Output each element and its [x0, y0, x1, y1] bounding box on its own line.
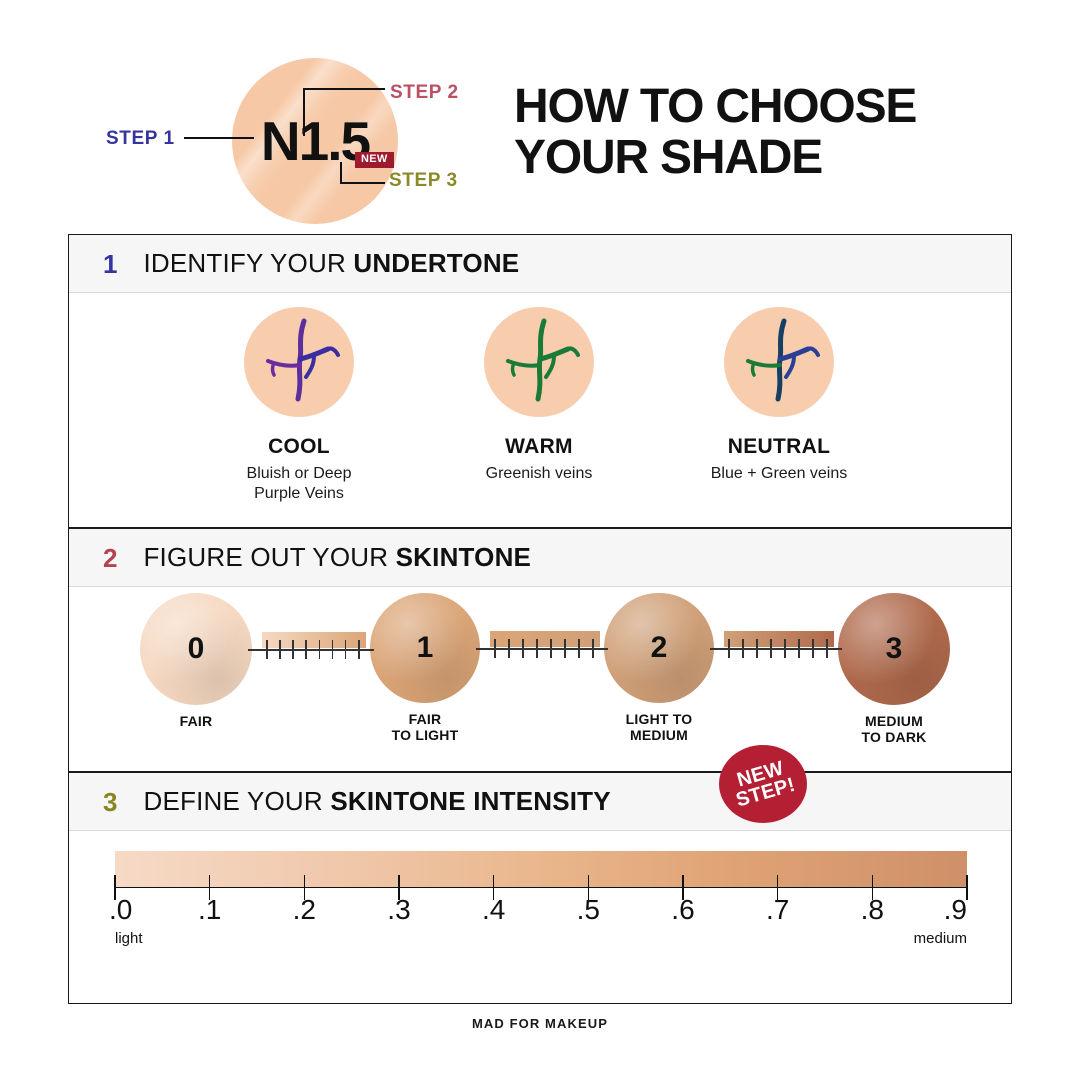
step2-leader-line-h [303, 88, 385, 90]
connector-tick [564, 639, 566, 658]
connector-tick [578, 639, 580, 658]
shade-code-label: N1.5 [232, 58, 398, 224]
section-2-title: FIGURE OUT YOUR SKINTONE [143, 542, 531, 573]
section-1-header: 1 IDENTIFY YOUR UNDERTONE [69, 235, 1011, 293]
cool-vein-illustration [244, 307, 354, 417]
intensity-tick-label-5: .5 [577, 894, 600, 926]
new-step-badge-text: NEWSTEP! [729, 757, 798, 810]
skintone-swatch-3: 3 [838, 593, 950, 705]
undertone-options: COOL Bluish or DeepPurple Veins WARM Gr [69, 293, 1011, 529]
connector-tick [332, 640, 334, 659]
section-skintone: 2 FIGURE OUT YOUR SKINTONE 0FAIR1FAIRTO … [68, 528, 1012, 772]
step2-leader-line-v [303, 88, 305, 136]
connector-gradient-band [262, 632, 366, 648]
skintone-option-1[interactable]: 1FAIRTO LIGHT [345, 593, 505, 743]
skintone-label-2: LIGHT TOMEDIUM [579, 711, 739, 743]
undertone-name-neutral: NEUTRAL [649, 435, 909, 459]
step-3-callout: STEP 3 [389, 170, 458, 192]
skintone-label-0: FAIR [116, 713, 276, 729]
undertone-desc-cool: Bluish or DeepPurple Veins [169, 464, 429, 504]
section-3-title-bold: SKINTONE INTENSITY [330, 786, 611, 816]
step3-leader-line-h [340, 182, 385, 184]
section-undertone: 1 IDENTIFY YOUR UNDERTONE COOL Bluish o [68, 234, 1012, 528]
skintone-number-0: 0 [188, 632, 205, 666]
skintone-connector-0-to-1 [248, 632, 374, 666]
connector-tick [770, 639, 772, 658]
section-1-title-bold: UNDERTONE [353, 248, 519, 278]
skintone-label-1: FAIRTO LIGHT [345, 711, 505, 743]
section-1-title-plain: IDENTIFY YOUR [143, 248, 353, 278]
header: N1.5 NEW STEP 1 STEP 2 STEP 3 HOW TO CHO… [0, 0, 1080, 228]
connector-tick [305, 640, 307, 659]
undertone-option-warm[interactable]: WARM Greenish veins [409, 307, 669, 484]
intensity-tick-label-2: .2 [293, 894, 316, 926]
connector-tick [742, 639, 744, 658]
intensity-axis [115, 887, 967, 888]
connector-tick [522, 639, 524, 658]
intensity-scale: .0.1.2.3.4.5.6.7.8.9 light medium [115, 851, 967, 950]
connector-tick [592, 639, 594, 658]
new-badge-chip: NEW [355, 152, 394, 168]
intensity-caption-medium: medium [914, 930, 967, 947]
section-3-number: 3 [103, 789, 117, 815]
skintone-number-3: 3 [886, 632, 903, 666]
skintone-rail: 0FAIR1FAIRTO LIGHT2LIGHT TOMEDIUM3MEDIUM… [69, 587, 1013, 773]
intensity-tick-label-7: .7 [766, 894, 789, 926]
step1-leader-line [184, 137, 254, 139]
connector-tick [358, 640, 360, 659]
skintone-connector-1-to-2 [476, 631, 608, 665]
connector-tick [279, 640, 281, 659]
step-1-callout: STEP 1 [106, 128, 175, 150]
intensity-tick-label-3: .3 [387, 894, 410, 926]
connector-tick [536, 639, 538, 658]
skintone-connector-2-to-3 [710, 631, 842, 665]
undertone-desc-warm: Greenish veins [409, 464, 669, 484]
intensity-tick-labels: .0.1.2.3.4.5.6.7.8.9 [115, 894, 967, 930]
skintone-label-3: MEDIUMTO DARK [814, 713, 974, 745]
warm-vein-illustration [484, 307, 594, 417]
section-2-title-bold: SKINTONE [396, 542, 531, 572]
section-2-header: 2 FIGURE OUT YOUR SKINTONE [69, 529, 1011, 587]
connector-tick [826, 639, 828, 658]
connector-axis [710, 648, 842, 650]
undertone-option-cool[interactable]: COOL Bluish or DeepPurple Veins [169, 307, 429, 504]
intensity-tick-label-6: .6 [671, 894, 694, 926]
section-intensity: 3 DEFINE YOUR SKINTONE INTENSITY NEWSTEP… [68, 772, 1012, 1004]
skintone-swatch-1: 1 [370, 593, 480, 703]
connector-axis [476, 648, 608, 650]
undertone-desc-neutral: Blue + Green veins [649, 464, 909, 484]
skintone-option-3[interactable]: 3MEDIUMTO DARK [814, 593, 974, 745]
connector-tick [550, 639, 552, 658]
neutral-vein-illustration [724, 307, 834, 417]
page-title-line-2: YOUR SHADE [514, 133, 916, 184]
intensity-tick-label-4: .4 [482, 894, 505, 926]
step3-leader-line-v [340, 162, 342, 184]
connector-tick [756, 639, 758, 658]
section-1-number: 1 [103, 251, 117, 277]
connector-tick [728, 639, 730, 658]
page-title: HOW TO CHOOSE YOUR SHADE [514, 82, 916, 184]
connector-tick [319, 640, 321, 659]
skintone-swatch-0: 0 [140, 593, 252, 705]
undertone-option-neutral[interactable]: NEUTRAL Blue + Green veins [649, 307, 909, 484]
brand-footer: MAD FOR MAKEUP [0, 1016, 1080, 1031]
skintone-swatch-2: 2 [604, 593, 714, 703]
undertone-name-warm: WARM [409, 435, 669, 459]
connector-tick [508, 639, 510, 658]
connector-tick [266, 640, 268, 659]
section-2-number: 2 [103, 545, 117, 571]
skintone-number-2: 2 [651, 631, 668, 665]
step-2-callout: STEP 2 [390, 82, 459, 104]
page-title-line-1: HOW TO CHOOSE [514, 82, 916, 133]
intensity-tick-label-0: .0 [109, 894, 132, 926]
intensity-tick-label-9: .9 [944, 894, 967, 926]
section-3-title: DEFINE YOUR SKINTONE INTENSITY [143, 786, 610, 817]
connector-tick [292, 640, 294, 659]
intensity-endpoint-captions: light medium [115, 930, 967, 950]
intensity-gradient-bar [115, 851, 967, 887]
section-2-title-plain: FIGURE OUT YOUR [143, 542, 395, 572]
skintone-scale: 0FAIR1FAIRTO LIGHT2LIGHT TOMEDIUM3MEDIUM… [69, 587, 1011, 773]
skintone-option-2[interactable]: 2LIGHT TOMEDIUM [579, 593, 739, 743]
intensity-caption-light: light [115, 930, 143, 947]
section-3-header: 3 DEFINE YOUR SKINTONE INTENSITY NEWSTEP… [69, 773, 1011, 831]
connector-tick [494, 639, 496, 658]
skintone-number-1: 1 [417, 631, 434, 665]
connector-gradient-band [490, 631, 600, 647]
undertone-name-cool: COOL [169, 435, 429, 459]
section-3-title-plain: DEFINE YOUR [143, 786, 330, 816]
intensity-tick-label-8: .8 [861, 894, 884, 926]
connector-tick [784, 639, 786, 658]
connector-tick [798, 639, 800, 658]
connector-tick [345, 640, 347, 659]
intensity-tick-label-1: .1 [198, 894, 221, 926]
section-1-title: IDENTIFY YOUR UNDERTONE [143, 248, 519, 279]
connector-gradient-band [724, 631, 834, 647]
connector-tick [812, 639, 814, 658]
new-step-badge: NEWSTEP! [719, 745, 807, 823]
